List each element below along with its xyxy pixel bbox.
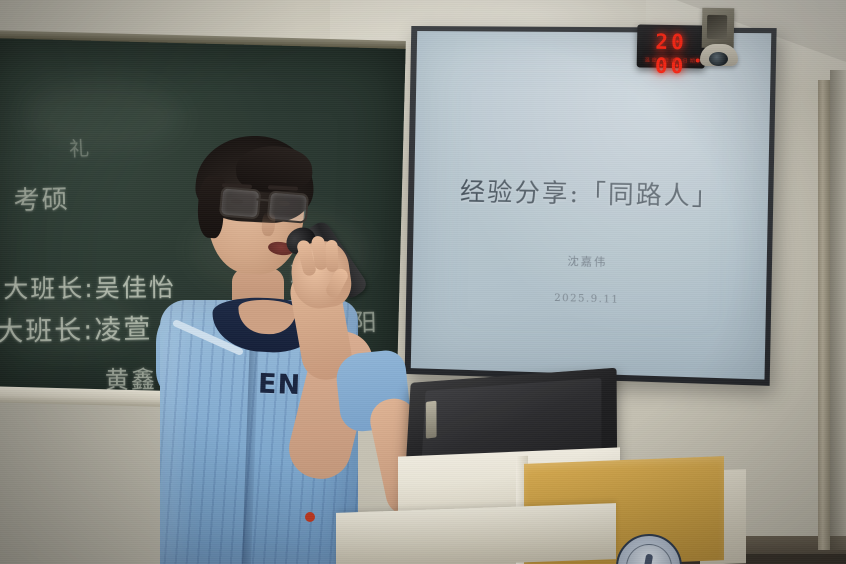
eyeglass-lens-left <box>219 186 261 219</box>
finger <box>325 240 338 272</box>
classroom-photo: 礼 治 考硕 大班长:吴佳怡 大班长:凌萱 黄鑫 疏霄 范楚阳 王诘 经验分享:… <box>0 0 846 564</box>
jersey-badge-red <box>305 512 315 522</box>
monitor-brand-label <box>426 401 437 439</box>
podium-desktop <box>336 503 616 564</box>
